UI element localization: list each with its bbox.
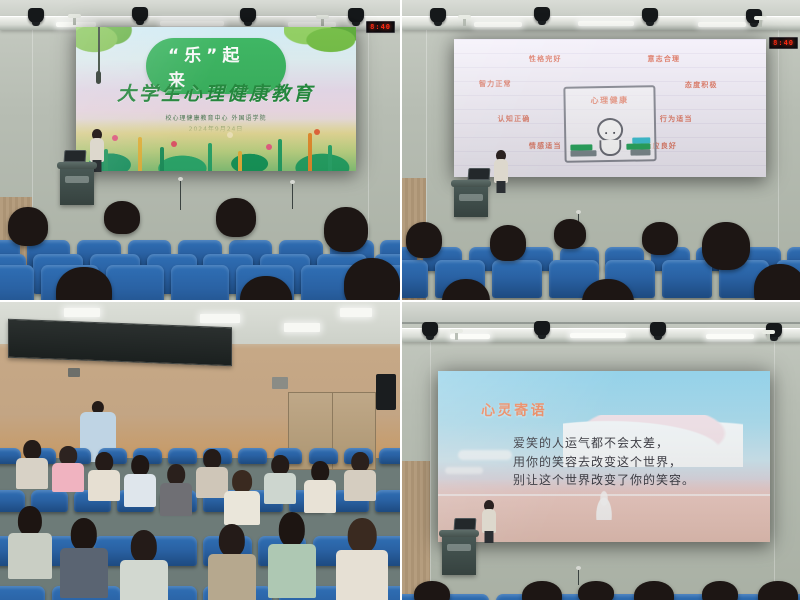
presenter [482,500,496,546]
quote-line: 别让这个世界改变了你的笑容。 [513,471,695,490]
led-clock: 8:40 [366,21,395,33]
spotlight-icon [430,8,446,23]
cartoon-figure-body [599,140,621,156]
presenter [494,150,508,190]
quote-line: 用你的笑容去改变这个世界， [513,453,695,472]
led-clock-text: 8:40 [370,23,391,31]
audience-member [120,530,168,600]
laptop [454,518,477,530]
auditorium-seat [402,260,428,298]
laptop [468,168,491,180]
center-diagram-label: 心理健康 [590,95,628,107]
led-clock-text: 8:40 [773,39,794,47]
audience-member [336,518,388,600]
audience-head [490,225,526,261]
audience-member [208,524,256,600]
photo-collage: 8:40 “乐”起来 大学生心理健康教育 校心理健康教育中心 外国语学院 202… [0,0,800,600]
audience-member [264,455,296,503]
audience-head [578,581,614,600]
audience-head [702,581,738,600]
auditorium-seat [375,490,400,512]
spotlight-icon [650,322,666,337]
audience-member [60,518,108,596]
audience-head [554,219,586,249]
attribute-label: 情感适当 [529,141,562,151]
panel-bottom-left [0,302,400,600]
auditorium-seat [168,448,197,464]
spotlight-icon [240,8,256,23]
audience-member [268,512,316,596]
panel-top-left: 8:40 “乐”起来 大学生心理健康教育 校心理健康教育中心 外国语学院 202… [0,0,400,300]
center-diagram: 心理健康 [563,85,656,163]
audience-head [406,222,442,258]
leaf-decoration-icon [284,27,356,63]
ceiling [402,302,800,324]
audience-member [344,452,376,500]
quote-line: 爱笑的人运气都不会太差， [513,434,695,453]
auditorium-seat [492,260,542,298]
slide-subtitle: 大学生心理健康教育 [117,79,315,106]
led-clock: 8:40 [769,37,798,49]
speaker-box-icon [376,374,396,410]
attribute-label: 意志合理 [647,54,680,64]
attribute-label: 行为适当 [660,114,693,124]
audience-head [642,222,678,255]
podium [442,533,476,575]
dancer-silhouette-icon [593,490,615,520]
podium-logo [459,194,483,201]
slide-quote: 爱笑的人运气都不会太差， 用你的笑容去改变这个世界， 别让这个世界改变了你的笑容… [513,434,695,490]
audience-member [52,446,84,491]
audience-member [88,452,120,500]
attribute-label: 智力正常 [479,79,512,89]
audience-member [160,464,192,515]
audience-member [224,470,260,524]
attribute-label: 性格完好 [529,54,562,64]
audience-member [16,440,48,488]
auditorium-seat [0,265,34,300]
attribute-label: 认知正确 [498,114,531,124]
auditorium-seat [106,265,164,300]
audience-member [304,461,336,512]
audience-head [216,198,256,237]
spotlight-icon [132,7,148,22]
auditorium-seat [379,448,400,464]
audience-head [324,207,368,252]
spotlight-icon [348,8,364,23]
panel-bottom-right: 心灵寄语 爱笑的人运气都不会太差， 用你的笑容去改变这个世界， 别让这个世界改变… [402,302,800,600]
audience-head [414,581,450,600]
audience-head [702,222,750,270]
podium-logo [447,544,471,551]
audience-head [344,258,400,300]
audience-member [8,506,52,578]
audience-head [104,201,140,234]
panel-top-right: 8:40 性格完好 意志合理 智力正常 态度积极 认知正确 行为适当 情感适当 … [402,0,800,300]
hanging-cord [98,27,100,73]
cartoon-figure-icon [597,118,623,142]
auditorium-seat [238,448,267,464]
auditorium-seat [662,260,712,298]
spotlight-icon [534,321,550,336]
spotlight-icon [534,7,550,22]
slide-title-text: 心灵寄语 [481,400,547,420]
meadow-decoration [76,119,356,171]
leaf-decoration-icon [76,27,136,63]
projection-screen: “乐”起来 大学生心理健康教育 校心理健康教育中心 外国语学院 2024年9月2… [76,27,356,171]
auditorium-seat [171,265,229,300]
slide-title: “乐”起来 大学生心理健康教育 校心理健康教育中心 外国语学院 2024年9月2… [76,27,356,171]
audience-member [124,455,156,506]
spotlight-icon [642,8,658,23]
spotlight-icon [28,8,44,23]
auditorium-seat [0,586,45,600]
audience-head [8,207,48,246]
laptop [64,150,87,162]
spotlight-icon [422,322,438,337]
attribute-label: 态度积极 [685,80,718,90]
